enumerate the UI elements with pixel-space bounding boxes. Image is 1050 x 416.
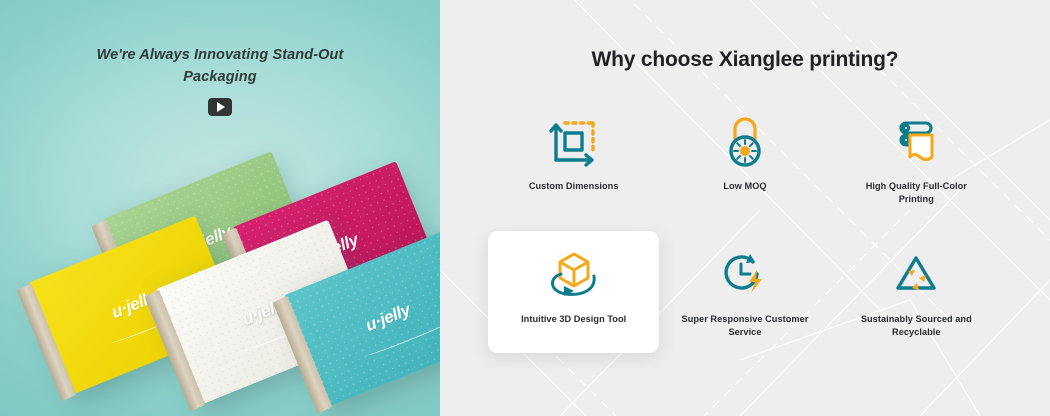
features-grid: Custom Dimensions	[440, 98, 1050, 353]
landing-page-section: We're Always Innovating Stand-Out Packag…	[0, 0, 1050, 416]
feature-sustainably-sourced[interactable]: Sustainably Sourced and Recyclable	[831, 231, 1002, 354]
3d-cube-rotate-icon	[544, 247, 604, 303]
feature-label: Sustainably Sourced and Recyclable	[851, 313, 981, 340]
hero-panel: We're Always Innovating Stand-Out Packag…	[0, 0, 440, 416]
feature-label: Custom Dimensions	[529, 180, 619, 193]
printing-press-icon	[888, 114, 944, 170]
feature-label: High Quality Full-Color Printing	[851, 180, 981, 207]
features-panel: Why choose Xianglee printing?	[440, 0, 1050, 416]
clock-lightning-icon	[719, 247, 771, 303]
feature-3d-design-tool[interactable]: Intuitive 3D Design Tool	[488, 231, 659, 354]
recycle-triangle-icon	[890, 247, 942, 303]
feature-label: Super Responsive Customer Service	[680, 313, 810, 340]
feature-custom-dimensions[interactable]: Custom Dimensions	[488, 98, 659, 221]
product-boxes-group: u·jelly u·jelly u·jelly	[0, 0, 440, 416]
feature-high-quality-printing[interactable]: High Quality Full-Color Printing	[831, 98, 1002, 221]
feature-customer-service[interactable]: Super Responsive Customer Service	[659, 231, 830, 354]
page-title: Why choose Xianglee printing?	[440, 0, 1050, 72]
feature-label: Intuitive 3D Design Tool	[521, 313, 626, 326]
padlock-low-moq-icon	[722, 114, 768, 170]
feature-low-moq[interactable]: Low MOQ	[659, 98, 830, 221]
custom-dimensions-icon	[547, 114, 601, 170]
feature-label: Low MOQ	[723, 180, 766, 193]
